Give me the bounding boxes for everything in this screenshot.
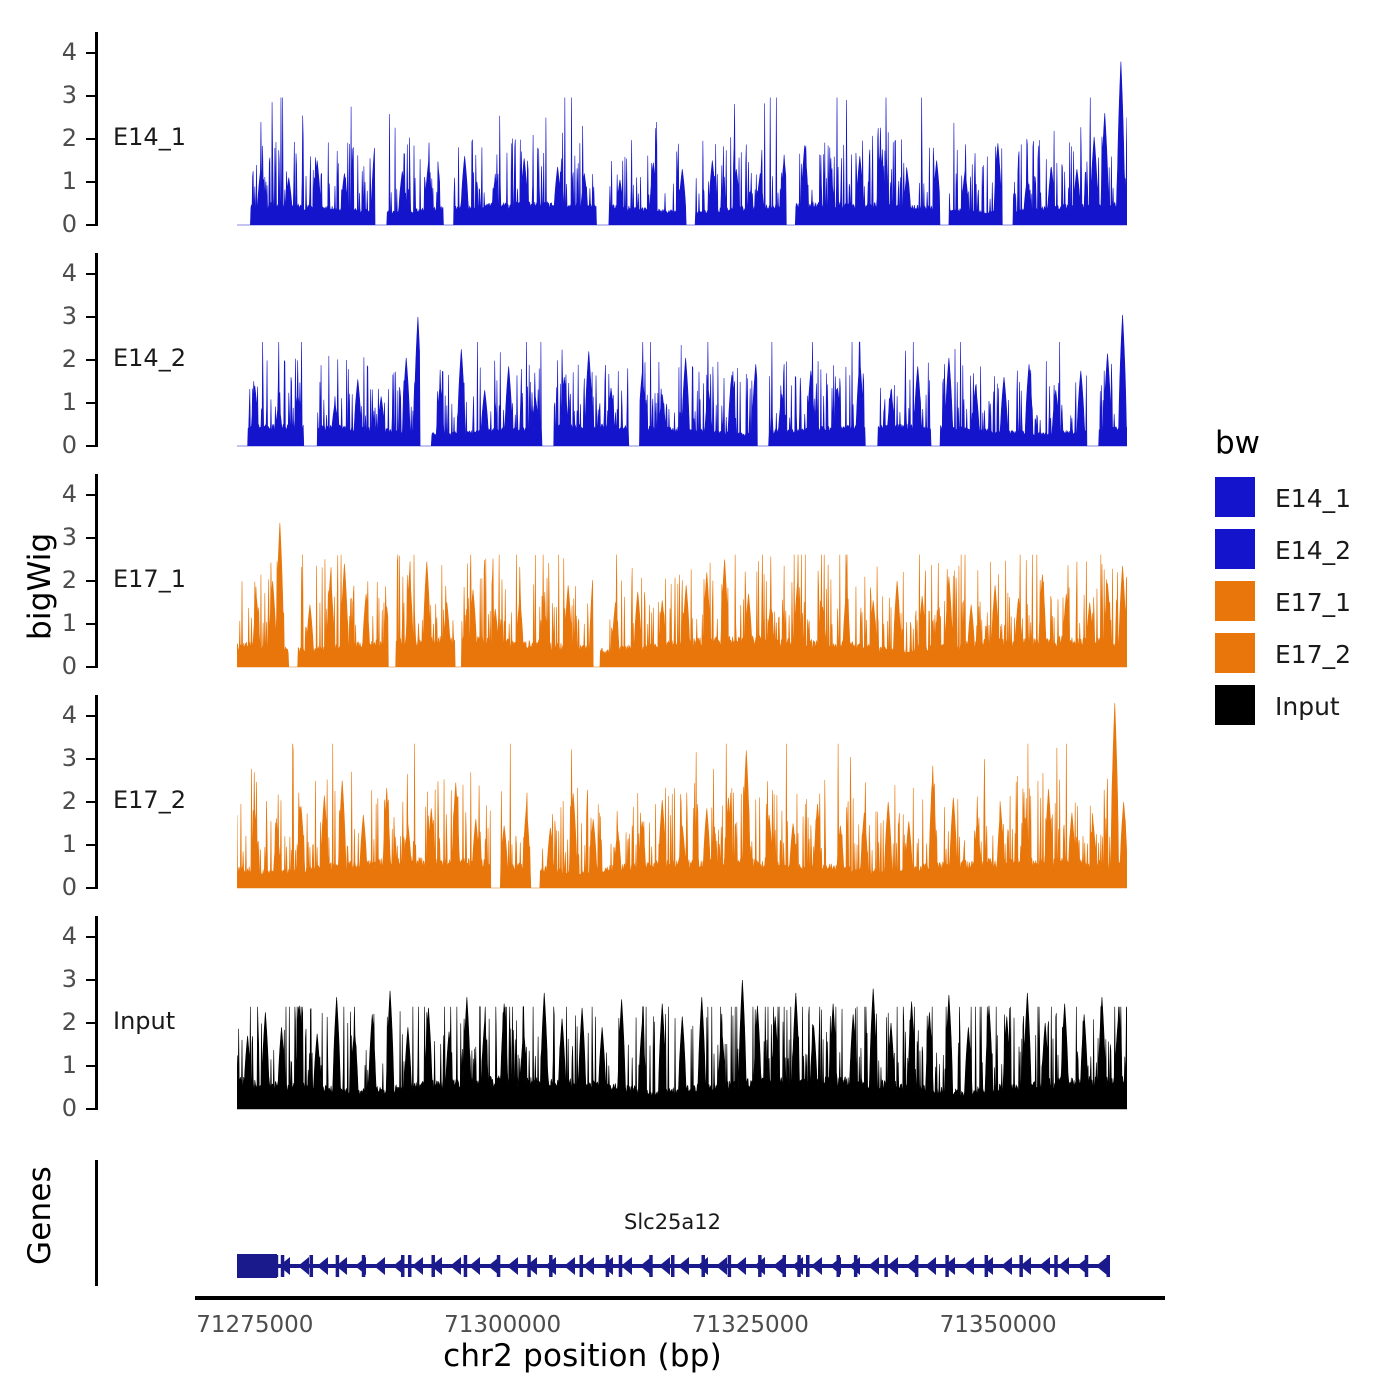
y-tick-mark [86, 936, 95, 938]
y-tick-label: 0 [43, 652, 77, 680]
y-tick-label: 2 [43, 345, 77, 373]
y-tick-label: 1 [43, 167, 77, 195]
y-tick-label: 1 [43, 830, 77, 858]
y-tick-mark [86, 224, 95, 226]
y-tick-mark [86, 758, 95, 760]
legend-title: bw [1215, 425, 1260, 461]
y-tick-label: 0 [43, 210, 77, 238]
y-axis-line [95, 32, 98, 226]
y-tick-label: 0 [43, 431, 77, 459]
track-panel-input: 01234Input [0, 916, 1180, 1121]
y-tick-mark [86, 138, 95, 140]
y-tick-mark [86, 402, 95, 404]
y-tick-label: 2 [43, 124, 77, 152]
track-panel-e14_2: 01234E14_2 [0, 253, 1180, 458]
y-tick-mark [86, 844, 95, 846]
y-tick-mark [86, 1065, 95, 1067]
y-tick-label: 2 [43, 787, 77, 815]
legend-label-e14_1: E14_1 [1275, 484, 1351, 513]
y-tick-mark [86, 715, 95, 717]
y-tick-label: 1 [43, 609, 77, 637]
y-tick-label: 3 [43, 965, 77, 993]
legend-swatch-e14_1[interactable] [1215, 477, 1255, 517]
y-axis-line [95, 474, 98, 668]
y-tick-mark [86, 95, 95, 97]
y-tick-mark [86, 494, 95, 496]
gene-track-panel: Slc25a12 [0, 1160, 1180, 1300]
track-label-input: Input [113, 1007, 175, 1035]
y-tick-label: 1 [43, 1051, 77, 1079]
y-tick-mark [86, 181, 95, 183]
y-tick-label: 3 [43, 81, 77, 109]
y-tick-mark [86, 1022, 95, 1024]
x-tick-label: 71275000 [165, 1312, 345, 1338]
legend-swatch-e17_2[interactable] [1215, 633, 1255, 673]
signal-area-e14_2 [237, 253, 1127, 458]
y-tick-mark [86, 801, 95, 803]
y-axis-line [95, 916, 98, 1110]
figure-root: bigWig Genes 01234E14_101234E14_201234E1… [0, 0, 1400, 1400]
x-tick-label: 71300000 [413, 1312, 593, 1338]
track-label-e17_2: E17_2 [113, 786, 186, 814]
legend-swatch-e14_2[interactable] [1215, 529, 1255, 569]
signal-area-e17_1 [237, 474, 1127, 679]
y-tick-mark [86, 316, 95, 318]
y-tick-mark [86, 887, 95, 889]
y-tick-mark [86, 1108, 95, 1110]
track-panel-e17_2: 01234E17_2 [0, 695, 1180, 900]
y-tick-label: 3 [43, 302, 77, 330]
y-tick-label: 4 [43, 922, 77, 950]
x-axis-line [195, 1296, 1165, 1300]
y-tick-label: 0 [43, 1094, 77, 1122]
y-tick-label: 4 [43, 480, 77, 508]
signal-area-e17_2 [237, 695, 1127, 900]
x-tick-label: 71350000 [908, 1312, 1088, 1338]
legend-label-e17_2: E17_2 [1275, 640, 1351, 669]
x-axis-title: chr2 position (bp) [0, 1338, 1165, 1374]
y-tick-label: 2 [43, 566, 77, 594]
y-tick-label: 1 [43, 388, 77, 416]
y-tick-label: 4 [43, 259, 77, 287]
track-panel-e17_1: 01234E17_1 [0, 474, 1180, 679]
y-tick-mark [86, 580, 95, 582]
y-axis-line [95, 695, 98, 889]
x-tick-label: 71325000 [660, 1312, 840, 1338]
y-tick-mark [86, 359, 95, 361]
legend-swatch-input[interactable] [1215, 685, 1255, 725]
signal-area-e14_1 [237, 32, 1127, 237]
legend-swatch-e17_1[interactable] [1215, 581, 1255, 621]
legend-label-input: Input [1275, 692, 1340, 721]
y-tick-label: 4 [43, 701, 77, 729]
y-tick-mark [86, 666, 95, 668]
y-tick-label: 3 [43, 744, 77, 772]
y-tick-label: 0 [43, 873, 77, 901]
y-tick-label: 4 [43, 38, 77, 66]
y-tick-mark [86, 979, 95, 981]
track-label-e17_1: E17_1 [113, 565, 186, 593]
y-tick-mark [86, 273, 95, 275]
gene-model [0, 1160, 1180, 1300]
track-label-e14_2: E14_2 [113, 344, 186, 372]
track-label-e14_1: E14_1 [113, 123, 186, 151]
legend-label-e17_1: E17_1 [1275, 588, 1351, 617]
track-panel-e14_1: 01234E14_1 [0, 32, 1180, 237]
y-tick-label: 2 [43, 1008, 77, 1036]
y-tick-mark [86, 445, 95, 447]
y-tick-mark [86, 623, 95, 625]
signal-area-input [237, 916, 1127, 1121]
y-tick-mark [86, 52, 95, 54]
y-tick-mark [86, 537, 95, 539]
legend-label-e14_2: E14_2 [1275, 536, 1351, 565]
y-axis-line [95, 253, 98, 447]
y-tick-label: 3 [43, 523, 77, 551]
